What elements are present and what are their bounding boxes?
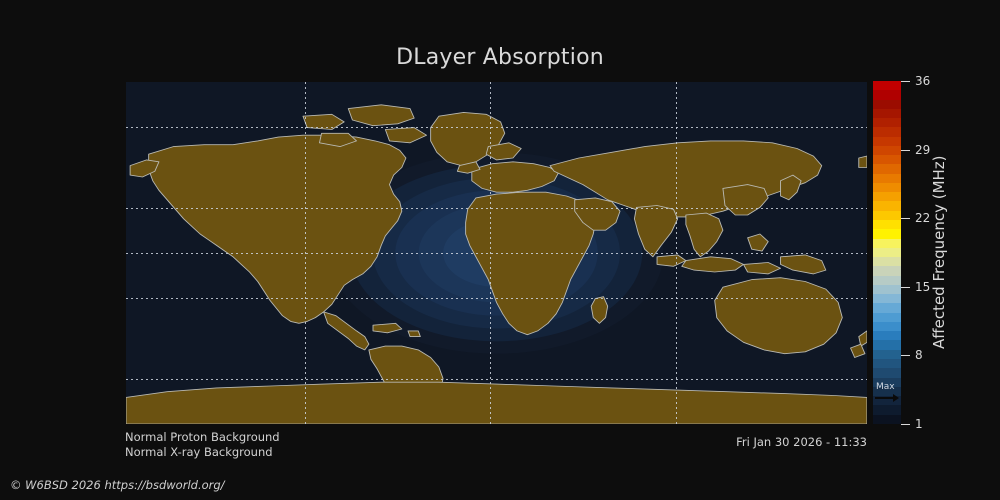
note-xray-background: Normal X-ray Background: [125, 445, 273, 459]
colorbar-band-31: [873, 368, 901, 377]
colorbar-tick-mark-29: [901, 150, 910, 151]
note-proton-background: Normal Proton Background: [125, 430, 280, 444]
colorbar-band-17: [873, 239, 901, 248]
colorbar-band-0: [873, 81, 901, 90]
colorbar-band-24: [873, 303, 901, 312]
colorbar-band-1: [873, 90, 901, 99]
map-graphic: [126, 82, 867, 424]
colorbar-tick-mark-15: [901, 287, 910, 288]
colorbar-band-29: [873, 350, 901, 359]
colorbar-band-8: [873, 155, 901, 164]
colorbar-tick-label-15: 15: [915, 280, 930, 294]
colorbar-tick-mark-36: [901, 81, 910, 82]
colorbar-band-15: [873, 220, 901, 229]
copyright-notice: © W6BSD 2026 https://bsdworld.org/: [10, 478, 225, 492]
colorbar-band-36: [873, 415, 901, 424]
colorbar-band-3: [873, 109, 901, 118]
colorbar-band-23: [873, 294, 901, 303]
colorbar-band-6: [873, 137, 901, 146]
colorbar-band-26: [873, 322, 901, 331]
colorbar-band-9: [873, 164, 901, 173]
colorbar-tick-mark-8: [901, 355, 910, 356]
colorbar-tick-label-29: 29: [915, 143, 930, 157]
colorbar-band-21: [873, 276, 901, 285]
colorbar-max-marker: Max: [874, 383, 901, 402]
colorbar-band-25: [873, 313, 901, 322]
colorbar-band-4: [873, 118, 901, 127]
colorbar-band-7: [873, 146, 901, 155]
colorbar-band-27: [873, 331, 901, 340]
dlayer-absorption-map-page: DLayer Absorption: [0, 0, 1000, 500]
colorbar-tick-mark-22: [901, 218, 910, 219]
colorbar-tick-label-1: 1: [915, 417, 923, 431]
colorbar-band-19: [873, 257, 901, 266]
colorbar-tick-mark-1: [901, 424, 910, 425]
colorbar-max-label: Max: [874, 383, 901, 392]
colorbar-band-30: [873, 359, 901, 368]
colorbar-band-35: [873, 405, 901, 414]
colorbar-band-20: [873, 266, 901, 275]
colorbar-band-12: [873, 192, 901, 201]
colorbar-band-16: [873, 229, 901, 238]
colorbar-tick-label-22: 22: [915, 211, 930, 225]
colorbar-gradient[interactable]: [873, 81, 901, 424]
colorbar-axis-title: Affected Frequency (MHz): [929, 81, 949, 424]
colorbar-band-2: [873, 100, 901, 109]
colorbar-band-10: [873, 174, 901, 183]
colorbar-band-22: [873, 285, 901, 294]
colorbar-band-11: [873, 183, 901, 192]
colorbar-band-28: [873, 340, 901, 349]
colorbar-band-14: [873, 211, 901, 220]
colorbar-band-13: [873, 201, 901, 210]
timestamp: Fri Jan 30 2026 - 11:33: [736, 435, 867, 449]
colorbar-band-5: [873, 127, 901, 136]
world-map-plot[interactable]: [126, 82, 867, 424]
colorbar-tick-label-8: 8: [915, 348, 923, 362]
page-title: DLayer Absorption: [0, 45, 1000, 70]
arrow-right-icon: [874, 394, 901, 402]
colorbar-band-18: [873, 248, 901, 257]
colorbar-tick-label-36: 36: [915, 74, 930, 88]
